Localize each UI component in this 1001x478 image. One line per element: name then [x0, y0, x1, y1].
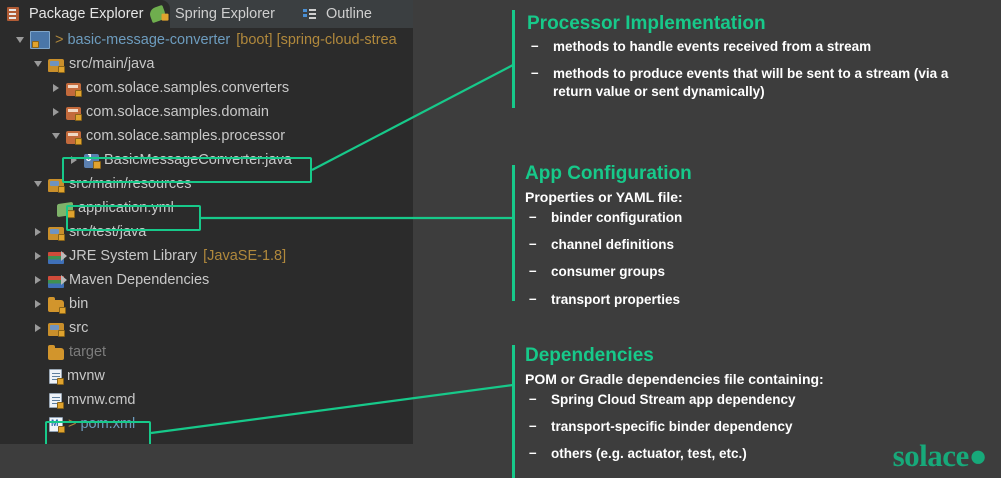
section-app-configuration-title: App Configuration [525, 163, 980, 186]
tab-spring-explorer-label: Spring Explorer [175, 6, 275, 22]
list-item: –Spring Cloud Stream app dependency [525, 391, 980, 409]
tree-row-basicmessageconverter[interactable]: BasicMessageConverter.java [0, 148, 413, 172]
tree-row-jre-system-library-suffix: [JavaSE-1.8] [203, 249, 286, 264]
chevron-right-icon[interactable] [70, 156, 79, 165]
package-icon [66, 107, 81, 120]
tree-row-maven-dependencies[interactable]: Maven Dependencies [0, 268, 413, 292]
package-icon [66, 131, 81, 144]
library-icon [48, 276, 64, 288]
chevron-right-icon[interactable] [34, 252, 43, 261]
section-app-configuration: App Configuration Properties or YAML fil… [525, 163, 980, 318]
tree-row-target[interactable]: target [0, 340, 413, 364]
dash-icon: – [529, 390, 537, 408]
tree-row-pom-xml[interactable]: > pom.xml [0, 412, 413, 436]
list-item-label: binder configuration [551, 210, 682, 225]
dash-icon: – [529, 235, 537, 253]
tree-row-mvnw-label: mvnw [67, 369, 105, 384]
dash-icon: – [531, 37, 539, 55]
source-folder-icon [48, 59, 64, 72]
section-dependencies-subtitle: POM or Gradle dependencies file containi… [525, 370, 980, 388]
file-icon [49, 369, 62, 384]
chevron-right-icon[interactable] [34, 228, 43, 237]
source-folder-icon [48, 227, 64, 240]
accent-bar-dependencies [512, 345, 515, 478]
tree-row-src-main-java-label: src/main/java [69, 57, 154, 72]
tab-spring-explorer[interactable]: Spring Explorer [143, 0, 282, 28]
list-item-label: Spring Cloud Stream app dependency [551, 392, 796, 407]
tree-row-application-yml-label: application.yml [78, 201, 174, 216]
yaml-file-icon [57, 201, 73, 216]
package-explorer-icon [7, 7, 19, 21]
tree-row-src-main-java[interactable]: src/main/java [0, 52, 413, 76]
pom-file-icon [49, 417, 63, 432]
list-item-label: transport-specific binder dependency [551, 419, 793, 434]
dash-icon: – [529, 417, 537, 435]
folder-plain-icon [48, 348, 64, 360]
tree-row-package-converters[interactable]: com.solace.samples.converters [0, 76, 413, 100]
tree-row-maven-dependencies-label: Maven Dependencies [69, 273, 209, 288]
chevron-down-icon[interactable] [34, 60, 43, 69]
package-explorer-panel: Package Explorer ✖ Spring Explorer Outli… [0, 0, 413, 444]
tree-row-pom-xml-label: pom.xml [80, 417, 135, 432]
screenshot-root: Package Explorer ✖ Spring Explorer Outli… [0, 0, 1001, 478]
list-item: –transport properties [525, 291, 980, 309]
dirty-marker: > [55, 32, 63, 48]
tree-row-mvnw-cmd[interactable]: mvnw.cmd [0, 388, 413, 412]
accent-bar-app-configuration [512, 165, 515, 301]
list-item: –binder configuration [525, 209, 980, 227]
source-folder-icon [48, 323, 64, 336]
accent-bar-processor [512, 10, 515, 108]
list-item-label: methods to produce events that will be s… [553, 66, 948, 99]
tab-outline-label: Outline [326, 6, 372, 22]
chevron-down-icon[interactable] [16, 36, 25, 45]
chevron-right-icon[interactable] [34, 276, 43, 285]
chevron-right-icon[interactable] [52, 84, 61, 93]
tree-row-bin[interactable]: bin [0, 292, 413, 316]
outline-icon [303, 8, 316, 20]
tree-row-src-test-java[interactable]: src/test/java [0, 220, 413, 244]
project-tree[interactable]: > basic-message-converter [boot] [spring… [0, 28, 413, 444]
file-icon [49, 393, 62, 408]
tree-row-mvnw-cmd-label: mvnw.cmd [67, 393, 136, 408]
dash-icon: – [529, 208, 537, 226]
tree-row-project-suffix: [boot] [spring-cloud-strea [236, 33, 396, 48]
tree-row-src[interactable]: src [0, 316, 413, 340]
section-processor-bullets: –methods to handle events received from … [527, 38, 982, 102]
list-item: –transport-specific binder dependency [525, 418, 980, 436]
tree-row-package-domain[interactable]: com.solace.samples.domain [0, 100, 413, 124]
library-icon [48, 252, 64, 264]
dash-icon: – [529, 444, 537, 462]
view-tab-bar: Package Explorer ✖ Spring Explorer Outli… [0, 0, 413, 28]
tree-row-mvnw[interactable]: mvnw [0, 364, 413, 388]
folder-icon [48, 300, 64, 312]
solace-logo-dot: ● [969, 438, 987, 473]
list-item-label: methods to handle events received from a… [553, 39, 871, 54]
section-processor-implementation: Processor Implementation –methods to han… [527, 13, 982, 110]
source-folder-icon [48, 179, 64, 192]
tree-row-package-converters-label: com.solace.samples.converters [86, 81, 289, 96]
tree-row-target-label: target [69, 345, 106, 360]
dash-icon: – [529, 290, 537, 308]
tree-row-basicmessageconverter-label: BasicMessageConverter.java [104, 153, 292, 168]
list-item: –methods to produce events that will be … [527, 65, 982, 101]
tree-row-src-label: src [69, 321, 88, 336]
dash-icon: – [529, 262, 537, 280]
list-item-label: channel definitions [551, 237, 674, 252]
tree-row-package-processor[interactable]: com.solace.samples.processor [0, 124, 413, 148]
tree-row-bin-label: bin [69, 297, 88, 312]
tree-row-jre-system-library[interactable]: JRE System Library [JavaSE-1.8] [0, 244, 413, 268]
chevron-down-icon[interactable] [52, 132, 61, 141]
tab-package-explorer-label: Package Explorer [29, 6, 143, 22]
tree-row-application-yml[interactable]: application.yml [0, 196, 413, 220]
dash-icon: – [531, 64, 539, 82]
list-item-label: transport properties [551, 292, 680, 307]
solace-logo-text: solace [893, 438, 969, 473]
tree-row-project[interactable]: > basic-message-converter [boot] [spring… [0, 28, 413, 52]
tree-row-src-test-java-label: src/test/java [69, 225, 146, 240]
list-item-label: consumer groups [551, 264, 665, 279]
section-dependencies-title: Dependencies [525, 345, 980, 368]
section-app-configuration-subtitle: Properties or YAML file: [525, 188, 980, 206]
tree-row-src-main-resources-label: src/main/resources [69, 177, 191, 192]
tree-row-src-main-resources[interactable]: src/main/resources [0, 172, 413, 196]
solace-logo: solace● [893, 438, 987, 474]
tab-outline[interactable]: Outline [296, 0, 379, 28]
list-item-label: others (e.g. actuator, test, etc.) [551, 446, 747, 461]
tree-row-package-processor-label: com.solace.samples.processor [86, 129, 285, 144]
spring-explorer-icon [148, 5, 167, 23]
tree-row-jre-system-library-label: JRE System Library [69, 249, 197, 264]
tree-row-package-domain-label: com.solace.samples.domain [86, 105, 269, 120]
list-item: –consumer groups [525, 263, 980, 281]
list-item: –channel definitions [525, 236, 980, 254]
chevron-right-icon[interactable] [34, 300, 43, 309]
chevron-down-icon[interactable] [34, 180, 43, 189]
section-processor-title: Processor Implementation [527, 13, 982, 36]
tree-row-project-label: basic-message-converter [67, 33, 230, 48]
chevron-right-icon[interactable] [52, 108, 61, 117]
package-icon [66, 83, 81, 96]
chevron-right-icon[interactable] [34, 324, 43, 333]
dirty-marker: > [68, 416, 76, 432]
list-item: –methods to handle events received from … [527, 38, 982, 56]
project-icon [30, 31, 50, 49]
section-app-configuration-bullets: –binder configuration –channel definitio… [525, 209, 980, 309]
java-file-icon [84, 154, 99, 168]
